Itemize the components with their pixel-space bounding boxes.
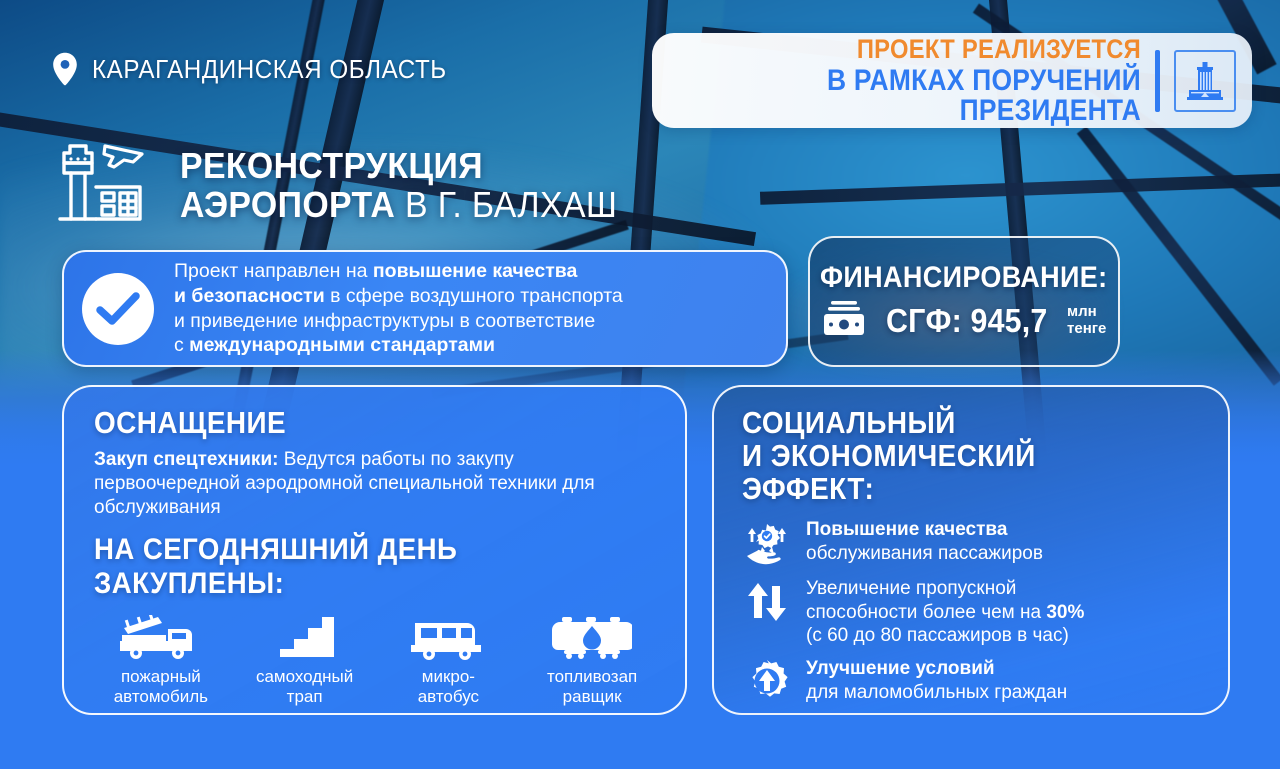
effect-item-bold: Повышение качества	[806, 519, 1007, 540]
project-title-block: РЕКОНСТРУКЦИЯ АЭРОПОРТА В Г. БАЛХАШ	[50, 140, 645, 231]
equipment-item-label: самоходный трап	[256, 667, 353, 707]
financing-unit: млн тенге	[1067, 304, 1106, 336]
effect-item-text: Увеличение пропускной способности более …	[806, 577, 1084, 649]
effect-item-bold: Улучшение условий	[806, 658, 995, 679]
president-banner-line1: ПРОЕКТ РЕАЛИЗУЕТСЯ	[732, 36, 1141, 63]
equipment-item-label-line1: самоходный	[256, 667, 353, 687]
equipment-item-label-line1: микро-	[418, 667, 479, 687]
project-title-text: РЕКОНСТРУКЦИЯ АЭРОПОРТА В Г. БАЛХАШ	[180, 148, 645, 223]
minibus-icon	[409, 613, 487, 661]
president-banner-text: ПРОЕКТ РЕАЛИЗУЕТСЯ В РАМКАХ ПОРУЧЕНИЙ ПР…	[732, 36, 1141, 126]
effect-items-list: Повышение качества обслуживания пассажир…	[742, 518, 1206, 706]
equipment-items-row: пожарный автомобиль с	[94, 613, 659, 707]
equipment-item-label-line1: топливозап	[547, 667, 637, 687]
fuel-tanker-icon	[552, 613, 632, 661]
project-title-line1: РЕКОНСТРУКЦИЯ	[180, 148, 617, 185]
desc-line2-regular: в сфере воздушного транспорта	[325, 285, 623, 307]
project-description-card: Проект направлен на повышение качества и…	[62, 250, 788, 367]
desc-line3: и приведение инфраструктуры в соответств…	[174, 310, 595, 332]
equipment-item: пожарный автомобиль	[94, 613, 228, 707]
gear-arrow-up-icon	[742, 657, 792, 705]
map-pin-icon	[52, 52, 78, 86]
effect-panel-heading-line1: СОЦИАЛЬНЫЙ	[742, 407, 1160, 440]
equipment-item-label-line2: равщик	[547, 687, 637, 707]
up-down-arrows-icon	[742, 577, 792, 625]
equipment-item-label-line2: трап	[256, 687, 353, 707]
check-circle-icon	[82, 273, 154, 345]
desc-line4-regular: с	[174, 334, 189, 356]
effect-item: Повышение качества обслуживания пассажир…	[742, 518, 1206, 568]
location-label: КАРАГАНДИНСКАЯ ОБЛАСТЬ	[92, 54, 447, 85]
financing-amount: СГФ: 945,7	[886, 302, 1047, 340]
financing-amount-row: СГФ: 945,7 млн тенге	[822, 299, 1107, 342]
mobile-stairs-icon	[274, 613, 336, 661]
effect-item-text: Улучшение условий для маломобильных граж…	[806, 657, 1067, 705]
equipment-panel-heading: ОСНАЩЕНИЕ	[94, 407, 603, 440]
desc-line1-bold: повышение качества	[373, 260, 577, 282]
financing-unit-line1: млн	[1067, 304, 1106, 320]
equipment-panel: ОСНАЩЕНИЕ Закуп спецтехники: Ведутся раб…	[62, 385, 687, 715]
equipment-description-bold: Закуп спецтехники:	[94, 449, 278, 470]
quality-badge-hand-icon	[742, 518, 792, 568]
effect-item: Увеличение пропускной способности более …	[742, 577, 1206, 649]
equipment-item-label: топливозап равщик	[547, 667, 637, 707]
banknotes-icon	[822, 299, 866, 342]
equipment-item-label-line2: автобус	[418, 687, 479, 707]
effect-capacity-value: 30%	[1046, 602, 1084, 623]
banner-divider	[1155, 50, 1160, 112]
president-mandate-banner: ПРОЕКТ РЕАЛИЗУЕТСЯ В РАМКАХ ПОРУЧЕНИЙ ПР…	[652, 33, 1252, 128]
equipment-item: самоходный трап	[238, 613, 372, 707]
effect-item-regular: для маломобильных граждан	[806, 682, 1067, 703]
infographic-poster: КАРАГАНДИНСКАЯ ОБЛАСТЬ ПРОЕКТ РЕАЛИЗУЕТС…	[0, 0, 1280, 769]
effect-item-regular: обслуживания пассажиров	[806, 543, 1043, 564]
president-banner-line2: В РАМКАХ ПОРУЧЕНИЙ ПРЕЗИДЕНТА	[732, 66, 1141, 126]
effect-capacity-line2: способности более чем на	[806, 602, 1046, 623]
effect-capacity-line1: Увеличение пропускной	[806, 578, 1016, 599]
location-header: КАРАГАНДИНСКАЯ ОБЛАСТЬ	[52, 52, 473, 86]
project-title-line2: АЭРОПОРТА В Г. БАЛХАШ	[180, 187, 617, 224]
equipment-description: Закуп спецтехники: Ведутся работы по зак…	[94, 448, 659, 520]
project-title-line2-bold: АЭРОПОРТА	[180, 184, 395, 225]
social-economic-effect-panel: СОЦИАЛЬНЫЙ И ЭКОНОМИЧЕСКИЙ ЭФФЕКТ:	[712, 385, 1230, 715]
desc-line1-regular: Проект направлен на	[174, 260, 373, 282]
financing-unit-line2: тенге	[1067, 321, 1106, 337]
desc-line4-bold: международными стандартами	[189, 334, 495, 356]
fire-truck-icon	[116, 613, 206, 661]
equipment-item: топливозап равщик	[525, 613, 659, 707]
equipment-item-label-line2: автомобиль	[114, 687, 208, 707]
airport-control-tower-icon	[50, 140, 158, 231]
effect-item-text: Повышение качества обслуживания пассажир…	[806, 518, 1043, 566]
financing-title: ФИНАНСИРОВАНИЕ:	[820, 261, 1107, 295]
financing-card: ФИНАНСИРОВАНИЕ: СГФ: 945,7 млн тенге	[808, 236, 1120, 367]
equipment-item: микро- автобус	[382, 613, 516, 707]
desc-line2-bold: и безопасности	[174, 285, 325, 307]
effect-capacity-line3: (с 60 до 80 пассажиров в час)	[806, 625, 1069, 646]
effect-item: Улучшение условий для маломобильных граж…	[742, 657, 1206, 705]
effect-panel-heading-line2: И ЭКОНОМИЧЕСКИЙ ЭФФЕКТ:	[742, 440, 1160, 506]
equipment-item-label-line1: пожарный	[114, 667, 208, 687]
equipment-item-label: пожарный автомобиль	[114, 667, 208, 707]
government-building-icon	[1174, 50, 1236, 112]
equipment-item-label: микро- автобус	[418, 667, 479, 707]
purchased-today-heading: НА СЕГОДНЯШНИЙ ДЕНЬ ЗАКУПЛЕНЫ:	[94, 533, 614, 601]
project-description-text: Проект направлен на повышение качества и…	[174, 259, 623, 359]
project-title-line2-regular: В Г. БАЛХАШ	[395, 184, 617, 225]
